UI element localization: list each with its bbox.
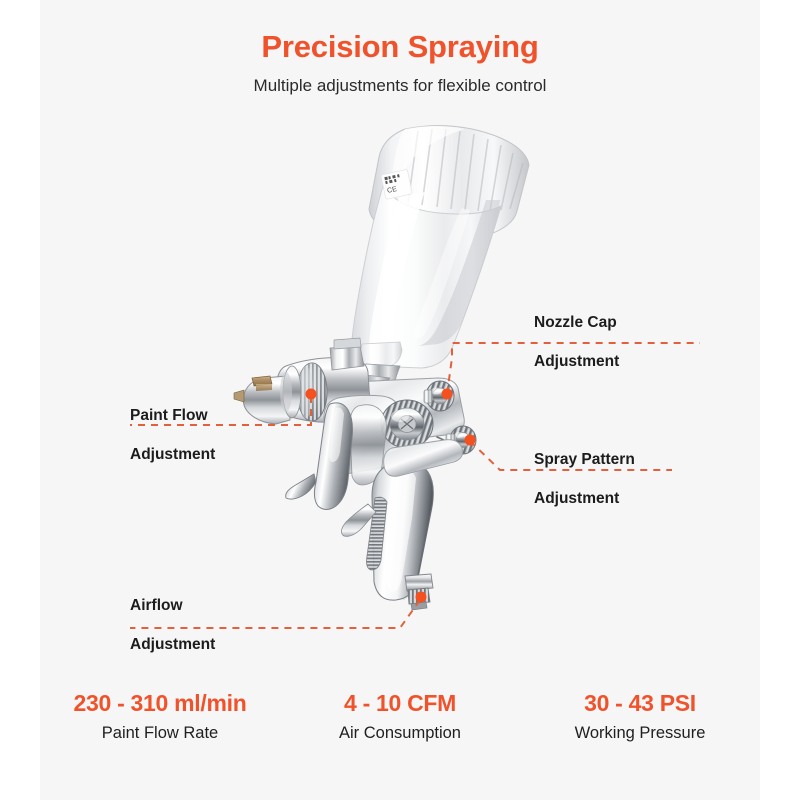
callout-spray-pattern: Spray Pattern Adjustment: [534, 431, 635, 528]
stat-paint-flow-rate-label: Paint Flow Rate: [41, 724, 279, 743]
stat-air-consumption: 4 - 10 CFM Air Consumption: [281, 690, 519, 743]
callout-nozzle-cap-line2: Adjustment: [534, 352, 619, 371]
stat-air-consumption-value: 4 - 10 CFM: [281, 690, 519, 717]
callout-airflow-line1: Airflow: [130, 596, 215, 615]
fluid-control-knob: [381, 400, 433, 448]
stat-working-pressure-value: 30 - 43 PSI: [521, 690, 759, 717]
callout-nozzle-cap: Nozzle Cap Adjustment: [534, 294, 619, 391]
dot-spray-pattern: [465, 435, 476, 446]
stat-working-pressure-label: Working Pressure: [521, 724, 759, 743]
callout-paint-flow-line1: Paint Flow: [130, 406, 215, 425]
callout-spray-pattern-line2: Adjustment: [534, 489, 635, 508]
spray-gun-body: [234, 338, 476, 610]
callout-nozzle-cap-line1: Nozzle Cap: [534, 313, 619, 332]
callout-spray-pattern-line1: Spray Pattern: [534, 450, 635, 469]
cup-sticker: CE: [381, 169, 413, 199]
stat-working-pressure: 30 - 43 PSI Working Pressure: [521, 690, 759, 743]
callout-paint-flow: Paint Flow Adjustment: [130, 387, 215, 484]
stat-paint-flow-rate-value: 230 - 310 ml/min: [41, 690, 279, 717]
stat-paint-flow-rate: 230 - 310 ml/min Paint Flow Rate: [41, 690, 279, 743]
product-infographic: Precision Spraying Multiple adjustments …: [0, 0, 800, 800]
callout-airflow: Airflow Adjustment: [130, 577, 215, 674]
paint-cup: CE: [352, 126, 529, 384]
spray-gun-image: CE: [0, 0, 800, 800]
stat-air-consumption-label: Air Consumption: [281, 724, 519, 743]
dot-paint-flow: [306, 389, 317, 400]
spec-stats-row: 230 - 310 ml/min Paint Flow Rate 4 - 10 …: [40, 690, 760, 743]
callout-paint-flow-line2: Adjustment: [130, 445, 215, 464]
callout-airflow-line2: Adjustment: [130, 635, 215, 654]
dot-nozzle-cap: [442, 389, 453, 400]
dot-airflow: [416, 592, 427, 603]
